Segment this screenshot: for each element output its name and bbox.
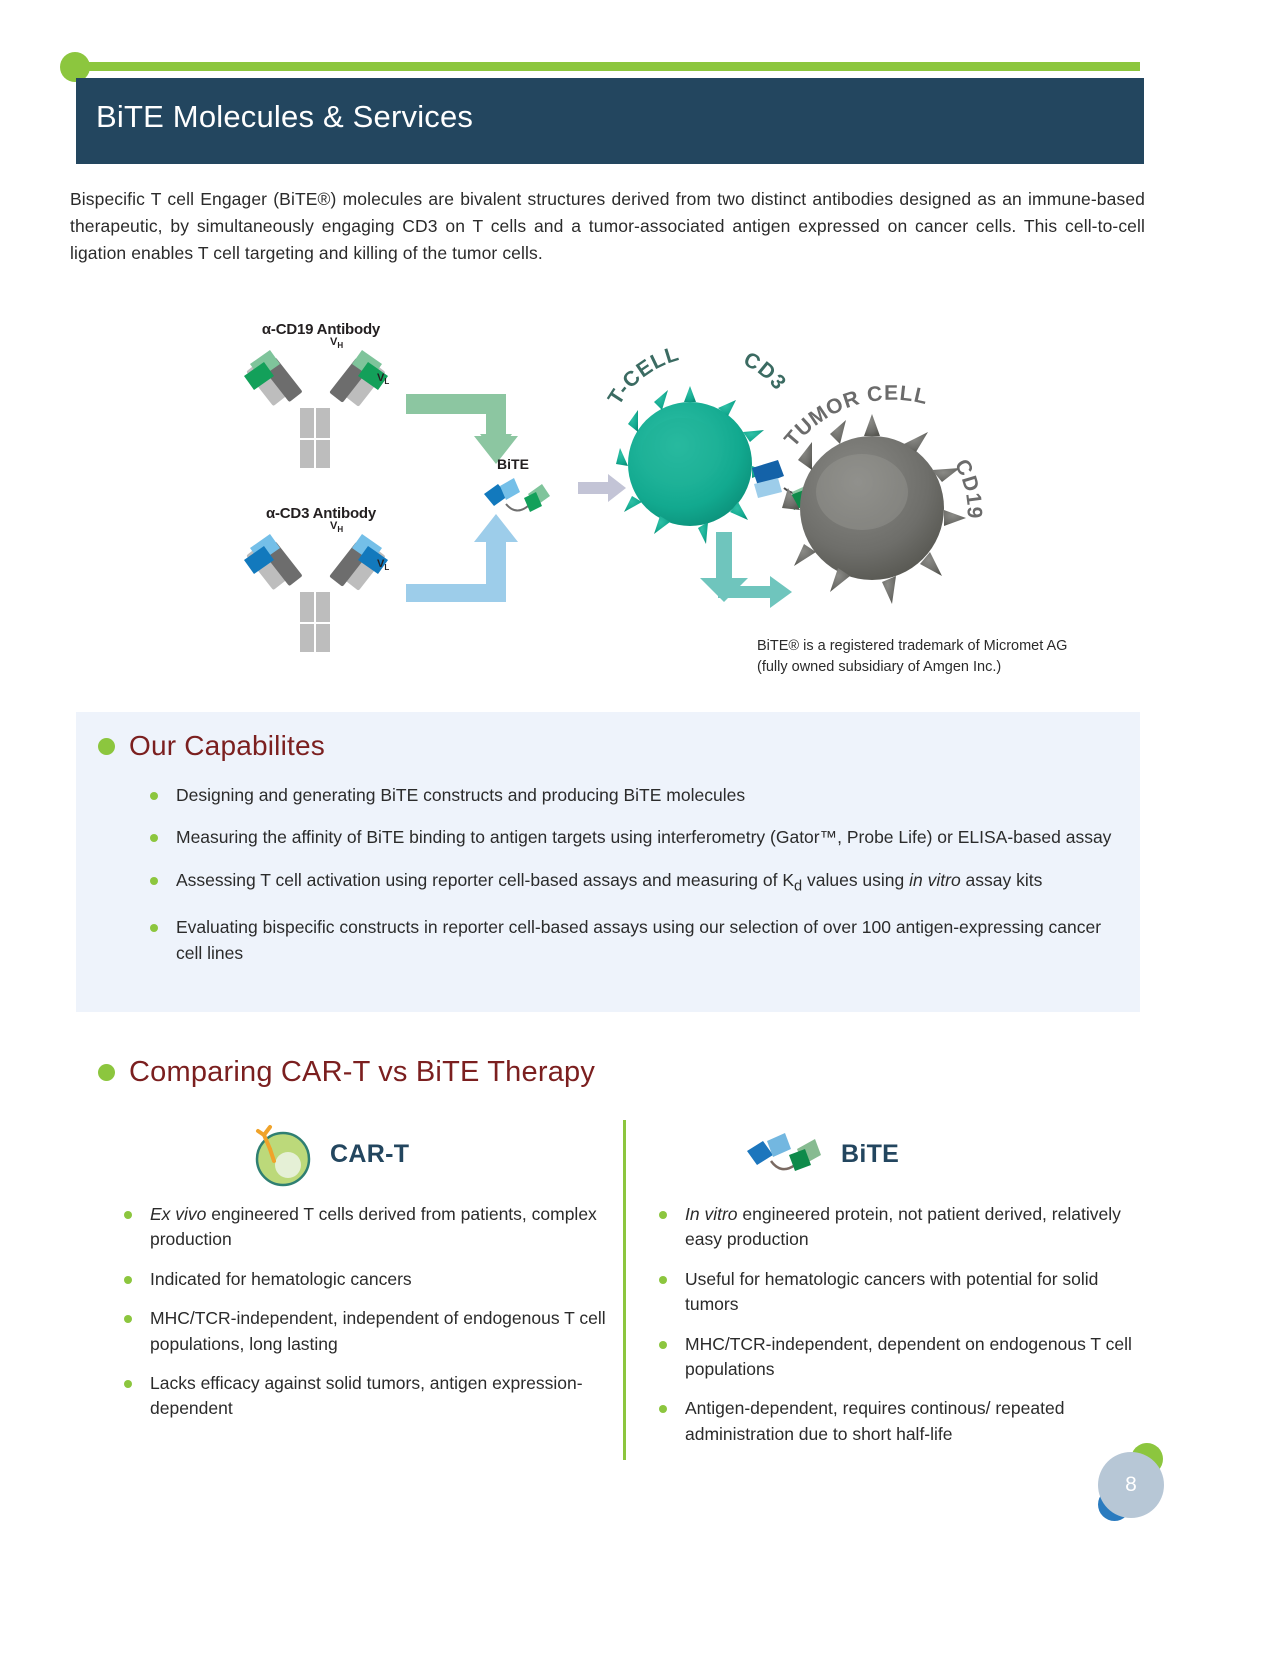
bite-molecule-icon <box>745 1131 823 1177</box>
bite-bullet-list: In vitro engineered protein, not patient… <box>645 1202 1150 1447</box>
page: BiTE Molecules & Services Bispecific T c… <box>0 0 1280 1656</box>
car-t-title-row: CAR-T <box>110 1118 620 1190</box>
comparison-divider <box>623 1120 626 1460</box>
header-accent-rule <box>76 62 1140 71</box>
bite-label: BiTE <box>841 1140 899 1169</box>
list-item: MHC/TCR-independent, dependent on endoge… <box>645 1332 1150 1383</box>
svg-text:T-CELL: T-CELL <box>604 342 682 409</box>
section-bullet-icon <box>98 738 115 755</box>
list-item: In vitro engineered protein, not patient… <box>645 1202 1150 1253</box>
list-item: MHC/TCR-independent, independent of endo… <box>110 1306 620 1357</box>
svg-text:CD3: CD3 <box>740 348 791 395</box>
antibody-cd3-label: α-CD3 Antibody <box>236 505 406 522</box>
list-item: Ex vivo engineered T cells derived from … <box>110 1202 620 1253</box>
comparison-heading: Comparing CAR-T vs BiTE Therapy <box>98 1056 595 1089</box>
intro-paragraph: Bispecific T cell Engager (BiTE®) molecu… <box>70 186 1145 267</box>
comparison-title: Comparing CAR-T vs BiTE Therapy <box>129 1056 595 1089</box>
list-item: Lacks efficacy against solid tumors, ant… <box>110 1371 620 1422</box>
capabilities-title: Our Capabilites <box>129 730 325 762</box>
capability-list-item: Measuring the affinity of BiTE binding t… <box>134 824 1124 850</box>
capabilities-list: Designing and generating BiTE constructs… <box>134 782 1124 982</box>
comparison-column-car-t: CAR-T Ex vivo engineered T cells derived… <box>110 1118 620 1436</box>
vl-label-cd3: VL <box>377 558 389 572</box>
svg-text:CD19: CD19 <box>950 456 986 520</box>
list-item: Useful for hematologic cancers with pote… <box>645 1267 1150 1318</box>
page-number-badge: 8 <box>1098 1452 1164 1518</box>
trademark-line-2: (fully owned subsidiary of Amgen Inc.) <box>757 657 1157 678</box>
antibody-cd19-label: α-CD19 Antibody <box>236 321 406 338</box>
capabilities-panel: Our Capabilites Designing and generating… <box>76 712 1140 1012</box>
trademark-note: BiTE® is a registered trademark of Micro… <box>757 636 1157 678</box>
car-t-label: CAR-T <box>330 1140 409 1169</box>
capability-list-item: Designing and generating BiTE constructs… <box>134 782 1124 808</box>
car-t-cell-icon <box>250 1121 312 1187</box>
section-bullet-icon <box>98 1064 115 1081</box>
capability-list-item: Evaluating bispecific constructs in repo… <box>134 914 1124 967</box>
trademark-line-1: BiTE® is a registered trademark of Micro… <box>757 636 1157 657</box>
bite-title-row: BiTE <box>645 1118 1150 1190</box>
vl-label-cd19: VL <box>377 372 389 386</box>
capability-list-item: Assessing T cell activation using report… <box>134 867 1124 898</box>
bite-box-label: BiTE <box>477 456 549 472</box>
page-title: BiTE Molecules & Services <box>96 99 473 135</box>
vh-label-cd3: VH <box>330 520 343 534</box>
list-item: Indicated for hematologic cancers <box>110 1267 620 1292</box>
list-item: Antigen-dependent, requires continous/ r… <box>645 1396 1150 1447</box>
comparison-column-bite: BiTE In vitro engineered protein, not pa… <box>645 1118 1150 1461</box>
capabilities-heading: Our Capabilites <box>98 730 325 762</box>
vh-label-cd19: VH <box>330 336 343 350</box>
car-t-bullet-list: Ex vivo engineered T cells derived from … <box>110 1202 620 1422</box>
